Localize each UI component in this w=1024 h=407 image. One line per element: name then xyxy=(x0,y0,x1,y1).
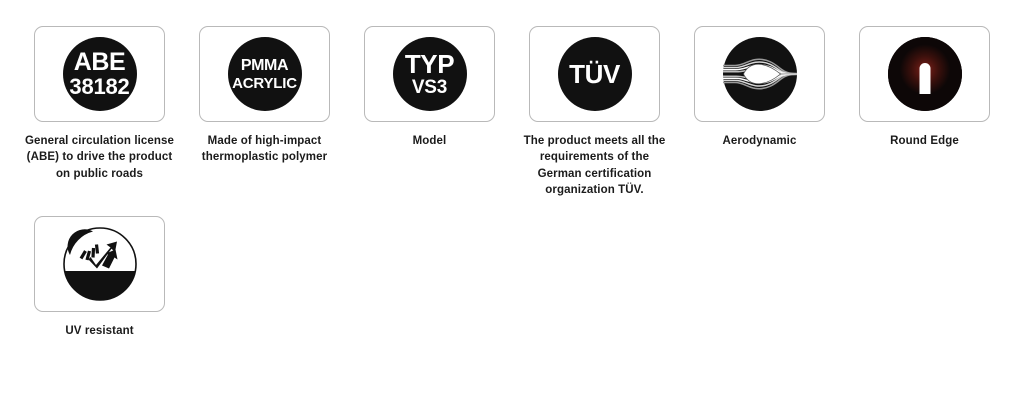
pmma-emblem-line1: PMMA xyxy=(241,58,288,74)
typ-emblem-line1: TYP xyxy=(405,51,454,77)
feature-item-model: TYP VS3 Model xyxy=(364,26,495,198)
badge-card-round-edge xyxy=(859,26,990,122)
aerodynamic-airfoil-icon xyxy=(723,37,797,111)
badge-caption-aerodynamic: Aerodynamic xyxy=(684,133,836,149)
tuv-certification-icon: TÜV xyxy=(558,37,632,111)
badge-caption-uv-resistant: UV resistant xyxy=(24,323,176,339)
feature-badge-grid: ABE 38182 General circulation license (A… xyxy=(0,0,1024,340)
badge-card-uv-resistant xyxy=(34,216,165,312)
uv-resistant-icon xyxy=(63,227,137,301)
feature-item-pmma: PMMA ACRYLIC Made of high-impact thermop… xyxy=(199,26,330,198)
badge-card-model: TYP VS3 xyxy=(364,26,495,122)
badge-caption-tuv: The product meets all the requirements o… xyxy=(519,133,671,198)
abe-emblem-line2: 38182 xyxy=(69,76,129,98)
pmma-emblem-line2: ACRYLIC xyxy=(232,76,297,91)
badge-card-aerodynamic xyxy=(694,26,825,122)
feature-item-uv-resistant: UV resistant xyxy=(34,216,165,339)
feature-item-aerodynamic: Aerodynamic xyxy=(694,26,825,198)
round-edge-icon xyxy=(888,37,962,111)
abe-approval-icon: ABE 38182 xyxy=(63,37,137,111)
badge-caption-pmma: Made of high-impact thermoplastic polyme… xyxy=(189,133,341,166)
badge-card-tuv: TÜV xyxy=(529,26,660,122)
badge-caption-model: Model xyxy=(354,133,506,149)
typ-model-icon: TYP VS3 xyxy=(393,37,467,111)
pmma-acrylic-icon: PMMA ACRYLIC xyxy=(228,37,302,111)
badge-caption-round-edge: Round Edge xyxy=(849,133,1001,149)
feature-item-abe: ABE 38182 General circulation license (A… xyxy=(34,26,165,198)
typ-emblem-line2: VS3 xyxy=(412,78,447,97)
tuv-emblem-line1: TÜV xyxy=(569,61,620,87)
badge-card-abe: ABE 38182 xyxy=(34,26,165,122)
feature-item-tuv: TÜV The product meets all the requiremen… xyxy=(529,26,660,198)
badge-card-pmma: PMMA ACRYLIC xyxy=(199,26,330,122)
badge-caption-abe: General circulation license (ABE) to dri… xyxy=(24,133,176,182)
abe-emblem-line1: ABE xyxy=(74,50,126,75)
feature-item-round-edge: Round Edge xyxy=(859,26,990,198)
